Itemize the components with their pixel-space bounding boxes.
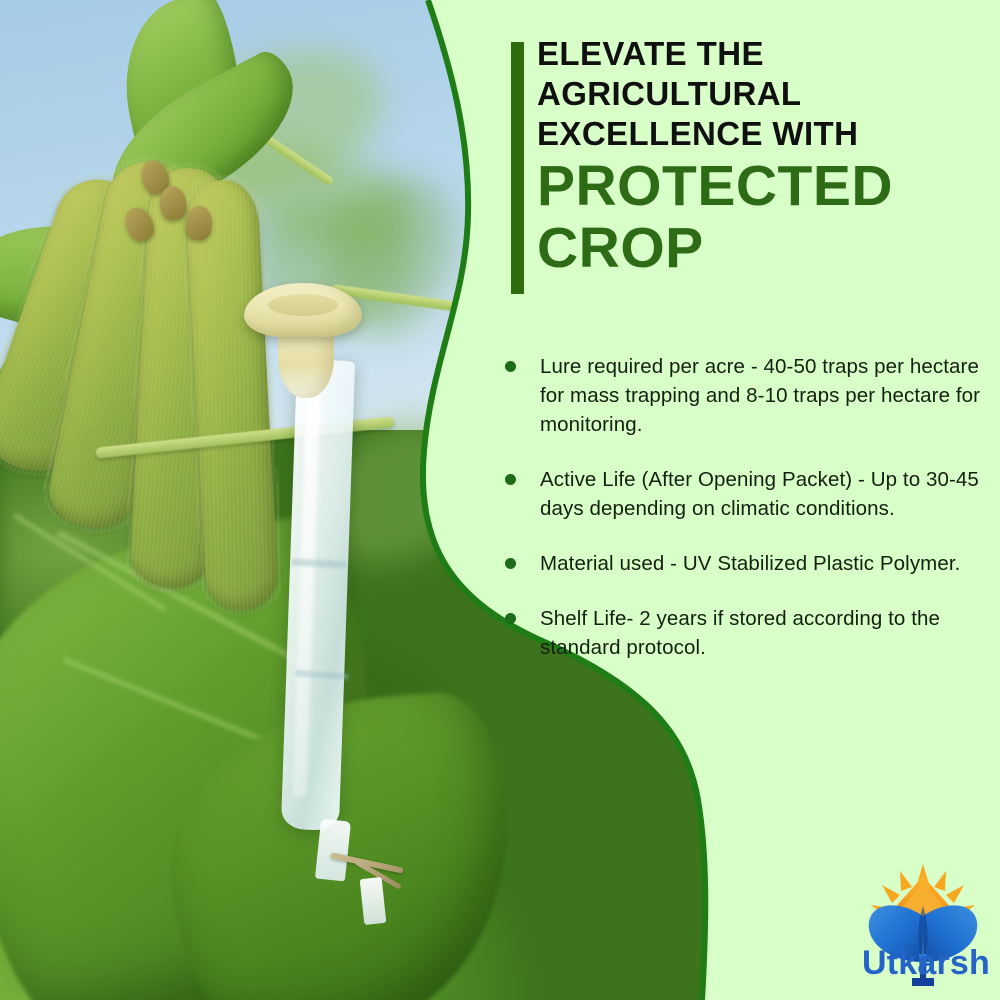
bullet-dot-icon	[505, 361, 516, 372]
list-item: Shelf Life- 2 years if stored according …	[505, 604, 985, 662]
list-item-text: Shelf Life- 2 years if stored according …	[540, 604, 985, 662]
bullet-dot-icon	[505, 613, 516, 624]
heading-accent-bar	[511, 42, 524, 294]
poster-canvas: ELEVATE THE AGRICULTURAL EXCELLENCE WITH…	[0, 0, 1000, 1000]
title-emphasis-2: CROP	[537, 218, 987, 278]
dispenser-cap-inner	[268, 294, 338, 316]
page-title: ELEVATE THE AGRICULTURAL EXCELLENCE WITH…	[537, 34, 987, 278]
title-emphasis-1: PROTECTED	[537, 156, 987, 216]
bullet-dot-icon	[505, 558, 516, 569]
list-item: Material used - UV Stabilized Plastic Po…	[505, 549, 985, 578]
list-item: Lure required per acre - 40-50 traps per…	[505, 352, 985, 439]
tube-flap	[360, 877, 387, 925]
pod-tip	[185, 205, 213, 241]
list-item-text: Material used - UV Stabilized Plastic Po…	[540, 549, 960, 578]
bullet-dot-icon	[505, 474, 516, 485]
list-item: Active Life (After Opening Packet) - Up …	[505, 465, 985, 523]
title-line-2: AGRICULTURAL	[537, 74, 987, 114]
brand-name: Utkarsh	[856, 944, 996, 983]
tube-tail	[315, 819, 351, 882]
title-line-1: ELEVATE THE	[537, 34, 987, 74]
soybean-pod	[185, 178, 279, 611]
list-item-text: Lure required per acre - 40-50 traps per…	[540, 352, 985, 439]
list-item-text: Active Life (After Opening Packet) - Up …	[540, 465, 985, 523]
feature-list: Lure required per acre - 40-50 traps per…	[505, 352, 985, 688]
title-line-3: EXCELLENCE WITH	[537, 114, 987, 154]
